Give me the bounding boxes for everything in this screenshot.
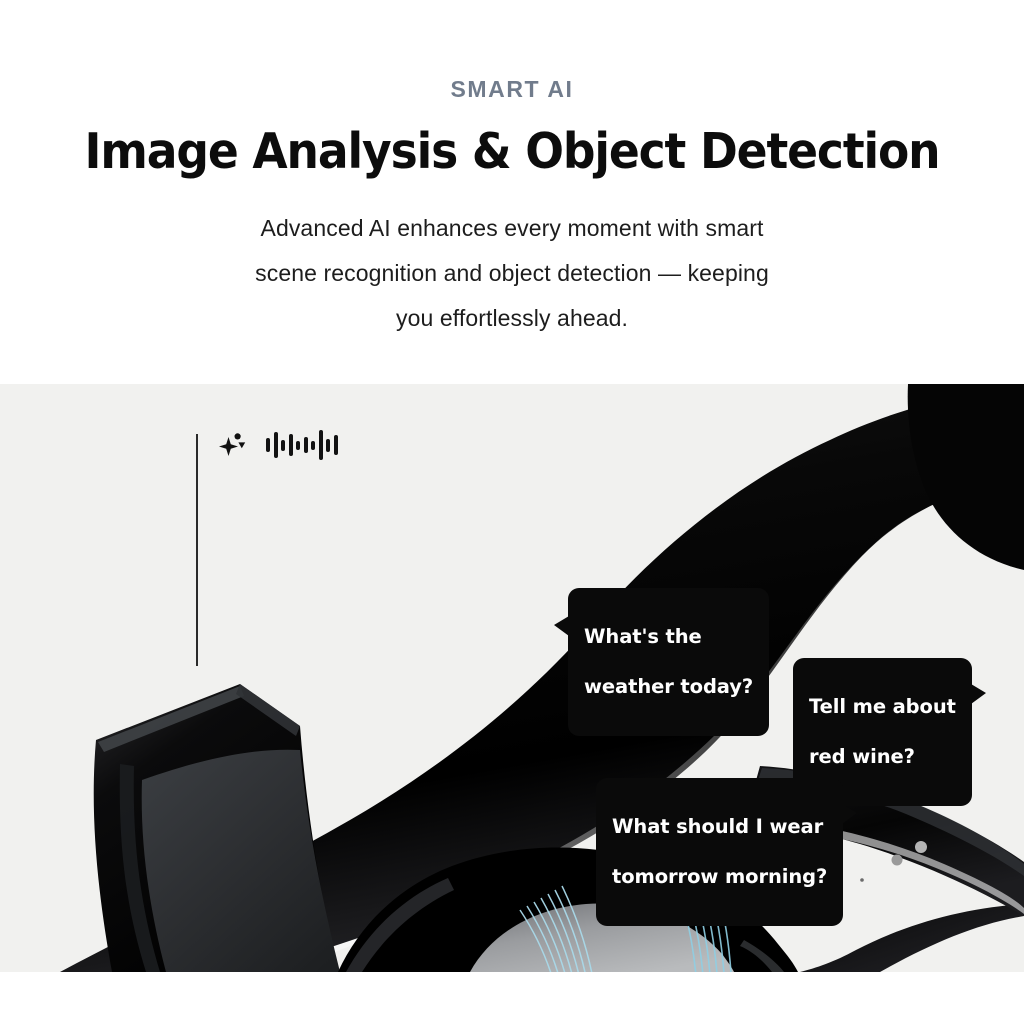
subtitle-paragraph: Advanced AI enhances every moment with s… xyxy=(0,206,1024,341)
page-title: Image Analysis & Object Detection xyxy=(36,127,988,178)
subtitle-line-2: scene recognition and object detection —… xyxy=(0,251,1024,296)
ai-voice-badge xyxy=(218,430,338,460)
voice-prompt-bubble-weather[interactable]: What's the weather today? xyxy=(568,588,769,736)
bubble-line: What should I wear xyxy=(612,814,827,839)
bubble-line: tomorrow morning? xyxy=(612,864,827,889)
left-lens-assembly xyxy=(94,684,340,972)
sparkle-icon xyxy=(218,430,248,460)
eyebrow-label: SMART AI xyxy=(0,78,1024,101)
subtitle-line-1: Advanced AI enhances every moment with s… xyxy=(0,206,1024,251)
bottom-white-band xyxy=(0,972,1024,1024)
audio-waveform-icon xyxy=(266,430,338,460)
bubble-line: Tell me about xyxy=(809,694,956,719)
bubble-line: What's the xyxy=(584,624,753,649)
text-header-block: SMART AI Image Analysis & Object Detecti… xyxy=(0,0,1024,384)
bubble-line: weather today? xyxy=(584,674,753,699)
subtitle-line-3: you effortlessly ahead. xyxy=(0,296,1024,341)
bubble-line: red wine? xyxy=(809,744,956,769)
microphone-dot xyxy=(892,855,903,866)
right-temple-tip xyxy=(908,384,1024,570)
microphone-dot xyxy=(915,841,927,853)
voice-prompt-bubble-outfit[interactable]: What should I wear tomorrow morning? xyxy=(596,778,843,926)
